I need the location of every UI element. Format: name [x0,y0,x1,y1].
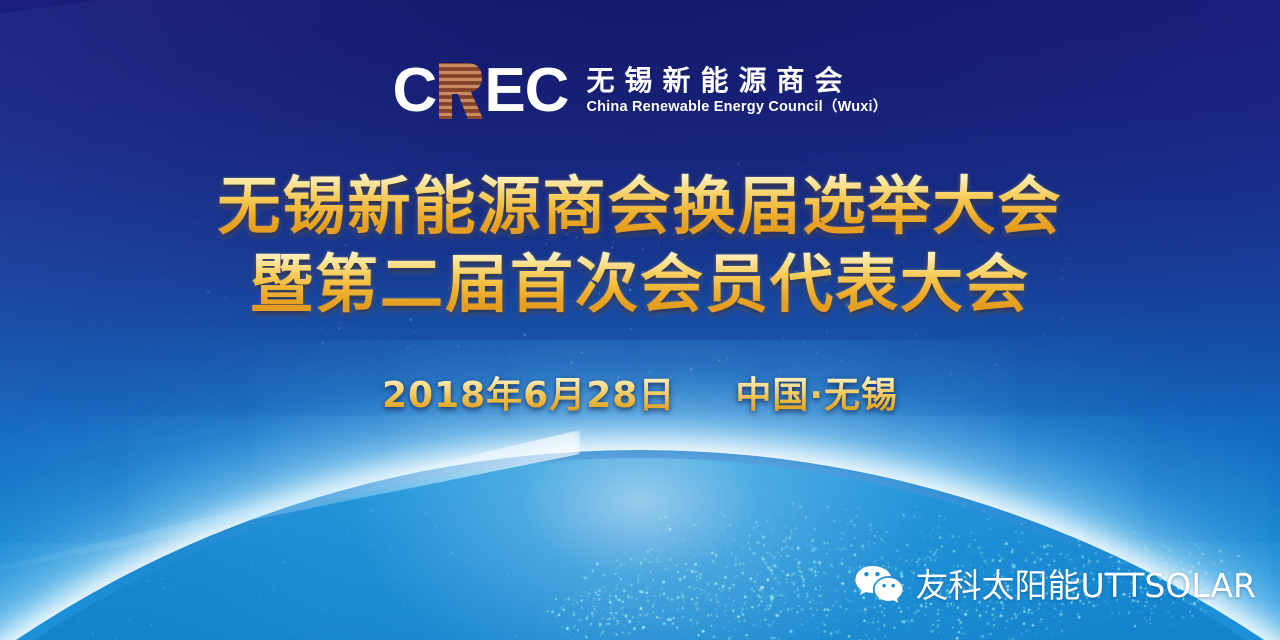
event-date: 2018年6月28日 [382,374,675,418]
wechat-watermark: 友科太阳能UTTSOLAR [854,564,1256,606]
logo-wordmark: C [393,62,569,119]
wechat-account-name: 友科太阳能UTTSOLAR [916,569,1256,602]
logo-letter-c1: C [393,62,437,119]
striped-solar-r-letter-icon [437,63,483,119]
wechat-icon [854,564,904,606]
event-meta: 2018年6月28日 中国·无锡 [0,374,1280,418]
cec-logo: C [0,62,1280,119]
title-line-2: 暨第二届首次会员代表大会 [0,248,1280,322]
logo-org-name-cn: 无锡新能源商会 [586,66,887,96]
title-line-1: 无锡新能源商会换届选举大会 [0,170,1280,244]
event-poster: C [0,0,1280,640]
logo-letter-e: E [484,62,524,119]
logo-text-block: 无锡新能源商会 China Renewable Energy Council（W… [586,64,887,117]
poster-title: 无锡新能源商会换届选举大会 暨第二届首次会员代表大会 [0,170,1280,322]
event-location: 中国·无锡 [735,374,898,418]
logo-letter-c2: C [525,62,569,119]
logo-org-name-en: China Renewable Energy Council（Wuxi） [586,99,887,116]
